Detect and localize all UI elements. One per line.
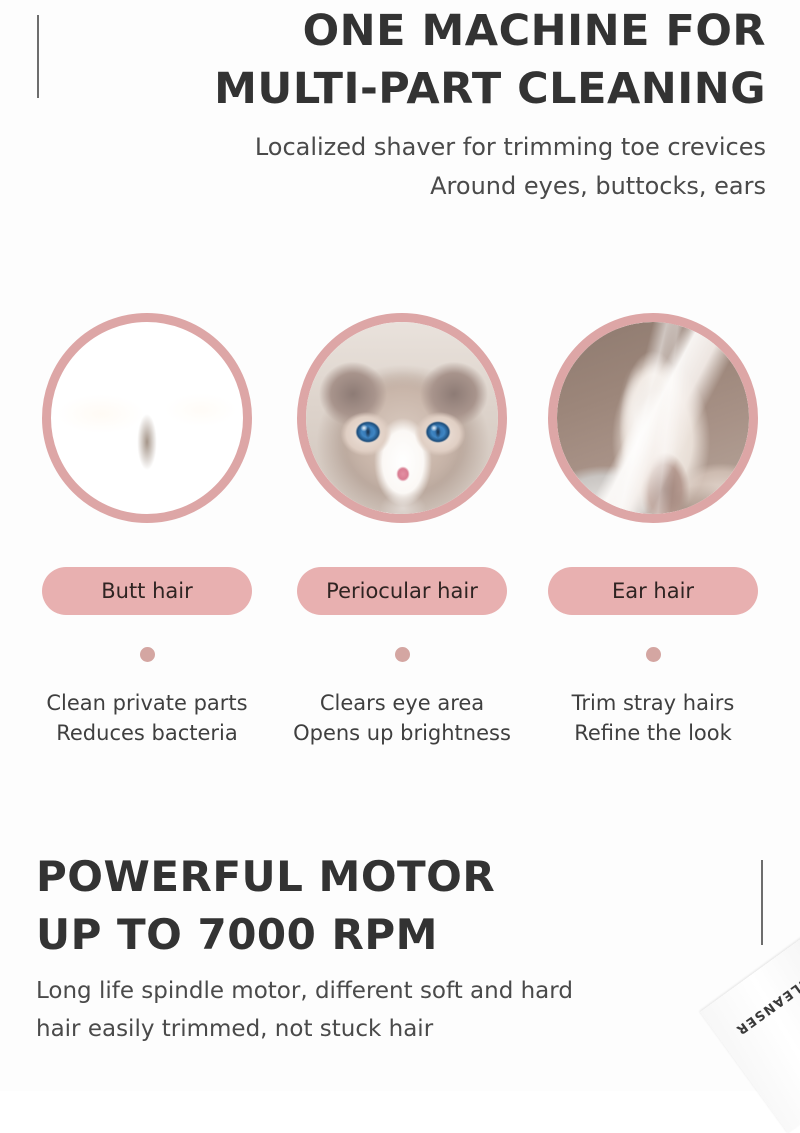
page-title: ONE MACHINE FOR MULTI-PART CLEANING — [46, 2, 766, 118]
photo-image-butt — [51, 322, 243, 514]
feature-grid: Butt hair Clean private parts Reduces ba… — [0, 300, 800, 770]
feature-pill-ear-hair: Ear hair — [548, 567, 758, 615]
motor-body-line-1: Long life spindle motor, different soft … — [36, 972, 736, 1010]
feature-caption-butt-hair: Clean private parts Reduces bacteria — [22, 688, 272, 748]
motor-body-line-2: hair easily trimmed, not stuck hair — [36, 1010, 736, 1048]
photo-image-ear — [557, 322, 749, 514]
feature-pill-periocular-hair: Periocular hair — [297, 567, 507, 615]
caption-line-1: Clears eye area — [277, 688, 527, 718]
caption-line-1: Clean private parts — [22, 688, 272, 718]
motor-description: Long life spindle motor, different soft … — [36, 972, 736, 1048]
ragdoll-cat-face-photo — [297, 313, 507, 523]
motor-section: POWERFUL MOTOR UP TO 7000 RPM Long life … — [0, 840, 800, 1091]
caption-line-1: Trim stray hairs — [528, 688, 778, 718]
bullet-dot-icon — [395, 647, 410, 662]
caption-line-2: Reduces bacteria — [22, 718, 272, 748]
headline-line-2: MULTI-PART CLEANING — [46, 60, 766, 118]
motor-headline-line-2: UP TO 7000 RPM — [36, 906, 736, 964]
page-subtitle: Localized shaver for trimming toe crevic… — [36, 128, 766, 206]
feature-column-ear-hair: Ear hair Trim stray hairs Refine the loo… — [528, 300, 778, 748]
feature-column-periocular-hair: Periocular hair Clears eye area Opens up… — [277, 300, 527, 748]
header-section: ONE MACHINE FOR MULTI-PART CLEANING Loca… — [0, 0, 800, 230]
header-divider-line — [37, 15, 39, 98]
product-brand-label: CLEANSER — [732, 974, 800, 1038]
feature-caption-periocular-hair: Clears eye area Opens up brightness — [277, 688, 527, 748]
feature-caption-ear-hair: Trim stray hairs Refine the look — [528, 688, 778, 748]
bullet-dot-icon — [140, 647, 155, 662]
photo-image-eye — [306, 322, 498, 514]
caption-line-2: Refine the look — [528, 718, 778, 748]
cat-ear-closeup-photo — [548, 313, 758, 523]
motor-divider-line — [761, 860, 763, 945]
caption-line-2: Opens up brightness — [277, 718, 527, 748]
feature-pill-butt-hair: Butt hair — [42, 567, 252, 615]
dog-hindquarters-photo — [42, 313, 252, 523]
motor-headline-line-1: POWERFUL MOTOR — [36, 848, 736, 906]
feature-column-butt-hair: Butt hair Clean private parts Reduces ba… — [22, 300, 272, 748]
subtitle-line-1: Localized shaver for trimming toe crevic… — [36, 128, 766, 167]
motor-title: POWERFUL MOTOR UP TO 7000 RPM — [36, 848, 736, 964]
bullet-dot-icon — [646, 647, 661, 662]
headline-line-1: ONE MACHINE FOR — [46, 2, 766, 60]
subtitle-line-2: Around eyes, buttocks, ears — [36, 167, 766, 206]
